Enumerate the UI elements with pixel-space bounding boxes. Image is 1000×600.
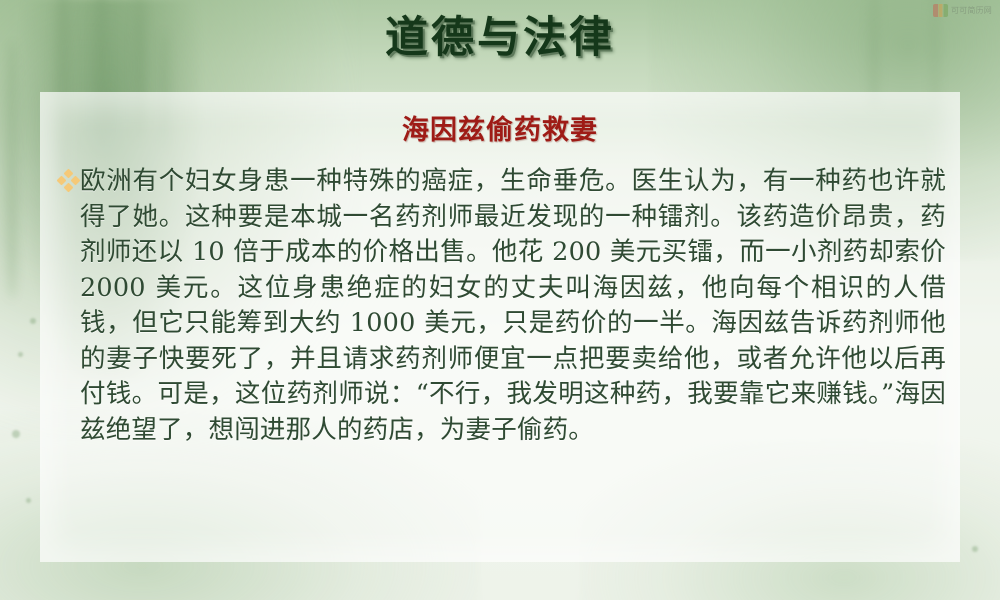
content-panel: 海因兹偷药救妻 欧洲有个妇女身患一种特殊的癌症，生命垂危。医生认为，有一种药也许… xyxy=(40,92,960,562)
background-speck xyxy=(972,546,978,552)
diamond-cluster-bullet-icon xyxy=(58,170,80,196)
background-speck xyxy=(18,352,23,357)
background-speck xyxy=(12,430,20,438)
body-bullet-item: 欧洲有个妇女身患一种特殊的癌症，生命垂危。医生认为，有一种药也许就得了她。这种要… xyxy=(58,164,946,448)
page-title: 道德与法律 xyxy=(0,12,1000,64)
background-brush-streak xyxy=(5,40,19,300)
slide-subtitle: 海因兹偷药救妻 xyxy=(40,114,960,148)
background-speck xyxy=(30,318,36,324)
body-paragraph: 欧洲有个妇女身患一种特殊的癌症，生命垂危。医生认为，有一种药也许就得了她。这种要… xyxy=(80,164,946,448)
presentation-slide: 可可简历网 道德与法律 海因兹偷药救妻 欧洲有个妇女身患一种特殊的癌症，生命垂危… xyxy=(0,0,1000,600)
background-speck xyxy=(26,498,31,503)
